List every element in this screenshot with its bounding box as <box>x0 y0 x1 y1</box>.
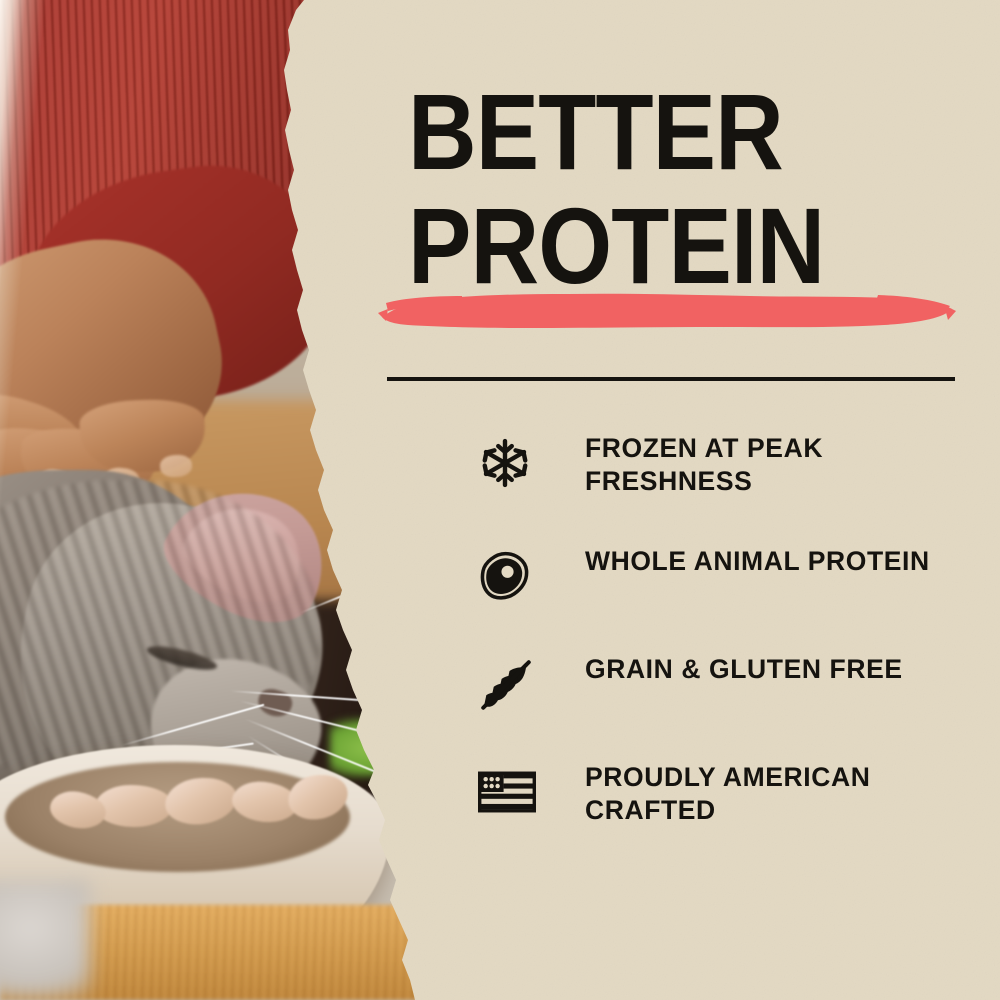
snowflake-icon <box>478 432 540 494</box>
feature-label: FROZEN AT PEAK FRESHNESS <box>540 432 945 499</box>
steak-icon <box>478 545 540 607</box>
headline-line-1: BETTER <box>408 86 783 179</box>
feature-item-whole-animal-protein: WHOLE ANIMAL PROTEIN <box>478 545 948 607</box>
feature-item-frozen: FROZEN AT PEAK FRESHNESS <box>478 432 948 499</box>
feature-item-american-crafted: PROUDLY AMERICAN CRAFTED <box>478 761 948 828</box>
feature-label: PROUDLY AMERICAN CRAFTED <box>540 761 945 828</box>
feature-list: FROZEN AT PEAK FRESHNESS WHOLE ANIMAL PR… <box>478 432 948 874</box>
horizontal-divider <box>387 377 955 381</box>
red-brush-underline <box>378 287 956 335</box>
feature-label: WHOLE ANIMAL PROTEIN <box>540 545 930 578</box>
feature-item-grain-gluten-free: GRAIN & GLUTEN FREE <box>478 653 948 715</box>
promo-graphic: BETTER PROTEIN <box>0 0 1000 1000</box>
usa-flag-icon <box>478 761 540 823</box>
wheat-slash-icon <box>478 653 540 715</box>
feature-label: GRAIN & GLUTEN FREE <box>540 653 903 686</box>
headline-line-2: PROTEIN <box>408 200 824 293</box>
